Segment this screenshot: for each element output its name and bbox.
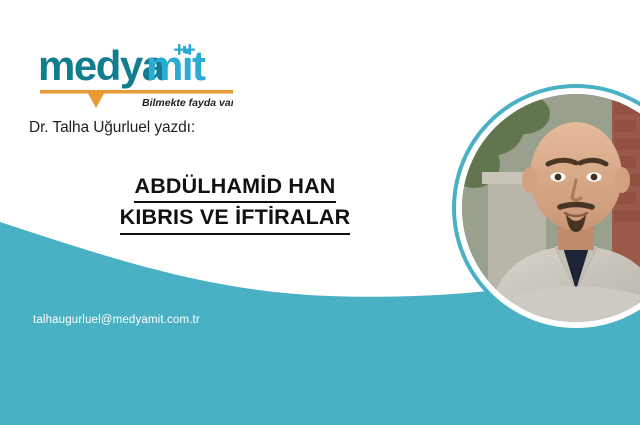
avatar [452,84,640,332]
head [530,122,622,230]
author-byline: Dr. Talha Uğurluel yazdı: [29,119,195,137]
headline-line-2: KIBRIS VE İFTİRALAR [120,203,351,234]
contact-email[interactable]: talhaugurluel@medyamit.com.tr [33,314,200,326]
article-banner: medya mit Bilmekte fayda var Dr. Talha U… [0,0,640,425]
logo-svg: medya mit Bilmekte fayda var [38,40,233,112]
medyamit-logo[interactable]: medya mit Bilmekte fayda var [38,40,233,112]
logo-tagline: Bilmekte fayda var [142,97,233,109]
headline-line-1: ABDÜLHAMİD HAN [134,172,335,203]
page-title: ABDÜLHAMİD HAN KIBRIS VE İFTİRALAR [60,172,410,235]
